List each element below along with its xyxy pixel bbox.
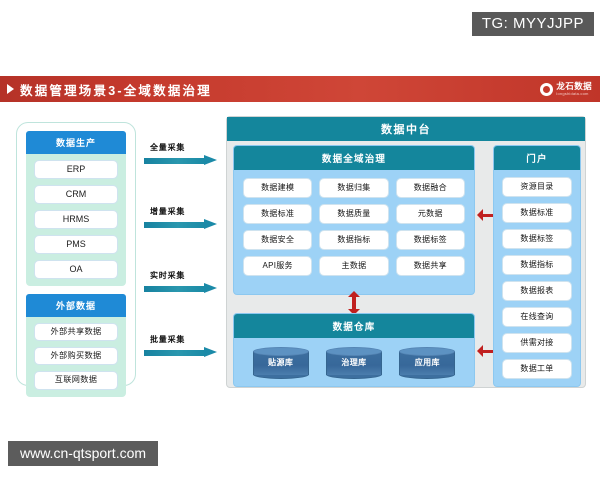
diagram-root: TG: MYYJJPP 数据管理场景3-全域数据治理 龙石数据 longshid… xyxy=(0,0,600,480)
source-item-external-shared[interactable]: 外部共享数据 xyxy=(34,323,118,341)
arrow-label-realtime: 实时采集 xyxy=(150,270,222,281)
warehouse-card: 数据仓库 贴源库 治理库 应用库 xyxy=(233,313,475,387)
brand-logo: 龙石数据 longshidata.com xyxy=(540,82,592,96)
logo-name-cn: 龙石数据 xyxy=(556,82,592,91)
governance-item-indicator[interactable]: 数据指标 xyxy=(319,230,388,250)
governance-grid: 数据建模 数据归集 数据融合 数据标准 数据质量 元数据 数据安全 数据指标 数… xyxy=(234,170,474,285)
portal-item-indicator[interactable]: 数据指标 xyxy=(502,255,572,275)
logo-name-en: longshidata.com xyxy=(556,92,592,96)
governance-item-collection[interactable]: 数据归集 xyxy=(319,178,388,198)
section-banner: 数据管理场景3-全域数据治理 龙石数据 longshidata.com xyxy=(0,76,600,102)
source-item-hrms[interactable]: HRMS xyxy=(34,210,118,229)
arrow-glyph-icon xyxy=(144,347,222,358)
portal-list: 资源目录 数据标准 数据标签 数据指标 数据报表 在线查询 供需对接 数据工单 xyxy=(494,170,580,386)
portal-item-tag[interactable]: 数据标签 xyxy=(502,229,572,249)
source-item-internet[interactable]: 互联网数据 xyxy=(34,371,118,389)
portal-item-workorder[interactable]: 数据工单 xyxy=(502,359,572,379)
arrow-realtime-collection: 实时采集 xyxy=(144,270,222,294)
governance-item-api[interactable]: API服务 xyxy=(243,256,312,276)
governance-item-metadata[interactable]: 元数据 xyxy=(396,204,465,224)
data-source-panel: 数据生产 ERP CRM HRMS PMS OA 外部数据 外部共享数据 外部购… xyxy=(16,122,136,386)
arrow-full-collection: 全量采集 xyxy=(144,142,222,166)
portal-card: 门户 资源目录 数据标准 数据标签 数据指标 数据报表 在线查询 供需对接 数据… xyxy=(493,145,581,387)
platform-title: 数据中台 xyxy=(227,117,585,141)
tg-tag: TG: MYYJJPP xyxy=(472,12,594,36)
portal-item-standard[interactable]: 数据标准 xyxy=(502,203,572,223)
arrow-label-full: 全量采集 xyxy=(150,142,222,153)
logo-text: 龙石数据 longshidata.com xyxy=(556,82,592,96)
source-item-erp[interactable]: ERP xyxy=(34,160,118,179)
governance-item-quality[interactable]: 数据质量 xyxy=(319,204,388,224)
warehouse-store-governance[interactable]: 治理库 xyxy=(326,347,382,379)
source-item-external-purchase[interactable]: 外部购买数据 xyxy=(34,347,118,365)
arrow-governance-warehouse-icon xyxy=(348,291,360,315)
store-label-application: 应用库 xyxy=(399,357,455,368)
triangle-icon xyxy=(7,84,14,94)
site-watermark: www.cn-qtsport.com xyxy=(8,441,158,466)
governance-title: 数据全域治理 xyxy=(234,146,474,170)
warehouse-stores: 贴源库 治理库 应用库 xyxy=(234,338,474,387)
warehouse-store-application[interactable]: 应用库 xyxy=(399,347,455,379)
governance-item-fusion[interactable]: 数据融合 xyxy=(396,178,465,198)
group-title-external: 外部数据 xyxy=(26,294,126,317)
source-item-crm[interactable]: CRM xyxy=(34,185,118,204)
governance-item-masterdata[interactable]: 主数据 xyxy=(319,256,388,276)
diagram-canvas: 数据生产 ERP CRM HRMS PMS OA 外部数据 外部共享数据 外部购… xyxy=(0,104,600,404)
arrow-label-incremental: 增量采集 xyxy=(150,206,222,217)
arrow-glyph-icon xyxy=(144,155,222,166)
portal-title: 门户 xyxy=(494,146,580,170)
group-title-production: 数据生产 xyxy=(26,131,126,154)
arrow-glyph-icon xyxy=(144,219,222,230)
governance-item-standard[interactable]: 数据标准 xyxy=(243,204,312,224)
logo-mark-icon xyxy=(540,83,553,96)
portal-item-matching[interactable]: 供需对接 xyxy=(502,333,572,353)
arrow-incremental-collection: 增量采集 xyxy=(144,206,222,230)
store-label-governance: 治理库 xyxy=(326,357,382,368)
data-platform-panel: 数据中台 数据全域治理 数据建模 数据归集 数据融合 数据标准 数据质量 元数据… xyxy=(226,116,586,388)
arrow-batch-collection: 批量采集 xyxy=(144,334,222,358)
warehouse-title: 数据仓库 xyxy=(234,314,474,338)
governance-item-security[interactable]: 数据安全 xyxy=(243,230,312,250)
governance-item-sharing[interactable]: 数据共享 xyxy=(396,256,465,276)
source-group-external: 外部数据 外部共享数据 外部购买数据 互联网数据 xyxy=(26,294,126,397)
portal-item-query[interactable]: 在线查询 xyxy=(502,307,572,327)
governance-item-tag[interactable]: 数据标签 xyxy=(396,230,465,250)
arrow-label-batch: 批量采集 xyxy=(150,334,222,345)
source-item-oa[interactable]: OA xyxy=(34,260,118,279)
arrow-glyph-icon xyxy=(144,283,222,294)
warehouse-store-source[interactable]: 贴源库 xyxy=(253,347,309,379)
governance-card: 数据全域治理 数据建模 数据归集 数据融合 数据标准 数据质量 元数据 数据安全… xyxy=(233,145,475,295)
governance-item-modeling[interactable]: 数据建模 xyxy=(243,178,312,198)
page-title: 数据管理场景3-全域数据治理 xyxy=(20,80,212,99)
collection-arrows: 全量采集 增量采集 实时采集 批量采集 xyxy=(144,122,222,386)
source-item-pms[interactable]: PMS xyxy=(34,235,118,254)
portal-item-catalog[interactable]: 资源目录 xyxy=(502,177,572,197)
source-group-production: 数据生产 ERP CRM HRMS PMS OA xyxy=(26,131,126,286)
portal-item-report[interactable]: 数据报表 xyxy=(502,281,572,301)
store-label-source: 贴源库 xyxy=(253,357,309,368)
